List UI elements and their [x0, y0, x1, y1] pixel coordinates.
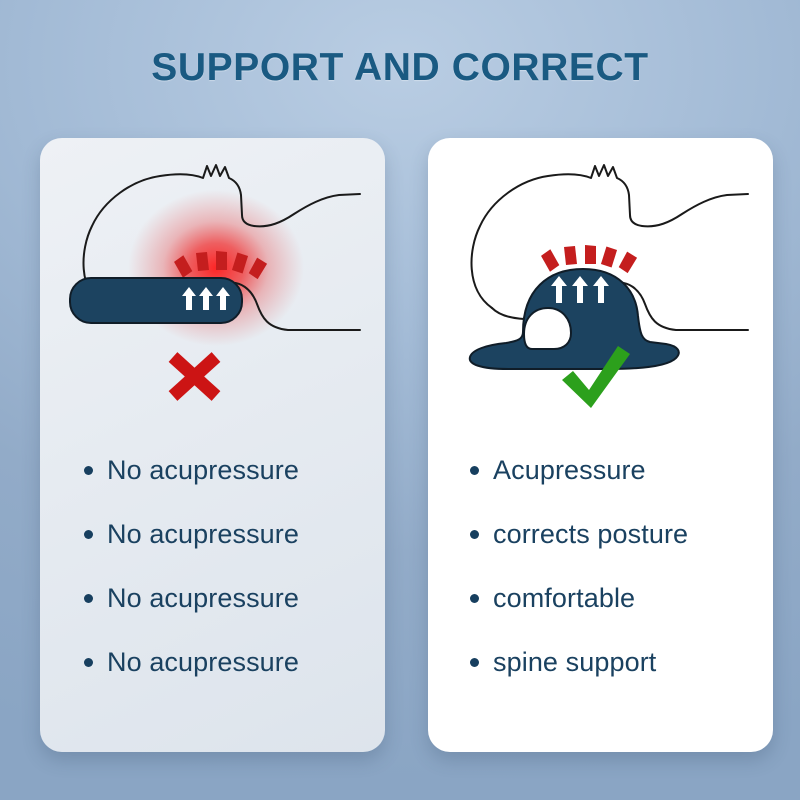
list-item-label: No acupressure — [107, 583, 299, 614]
tick-3 — [585, 245, 596, 264]
list-item: spine support — [428, 630, 773, 694]
bullet-dot-icon — [84, 466, 93, 475]
illustration-flat-pillow — [40, 138, 385, 428]
poster-root: SUPPORT AND CORRECT — [0, 0, 800, 800]
bullet-dot-icon — [470, 466, 479, 475]
list-item-label: Acupressure — [493, 455, 646, 486]
page-title: SUPPORT AND CORRECT — [0, 46, 800, 90]
list-item-label: spine support — [493, 647, 656, 678]
list-item: No acupressure — [40, 438, 385, 502]
illustration-contour-pillow — [428, 138, 773, 428]
card-incorrect: No acupressure No acupressure No acupres… — [40, 138, 385, 752]
tick-1 — [540, 248, 560, 273]
list-item-label: No acupressure — [107, 519, 299, 550]
bullet-dot-icon — [470, 658, 479, 667]
tick-2 — [564, 246, 577, 265]
card-correct: Acupressure corrects posture comfortable… — [428, 138, 773, 752]
tick-4 — [601, 246, 618, 268]
list-item: comfortable — [428, 566, 773, 630]
list-item: No acupressure — [40, 630, 385, 694]
pressure-arrows — [182, 287, 230, 310]
pressure-arrows — [551, 276, 609, 303]
list-item: corrects posture — [428, 502, 773, 566]
tick-3 — [216, 251, 227, 270]
list-item: No acupressure — [40, 502, 385, 566]
bullet-dot-icon — [470, 530, 479, 539]
bullet-dot-icon — [84, 658, 93, 667]
benefits-list-correct: Acupressure corrects posture comfortable… — [428, 438, 773, 694]
list-item: Acupressure — [428, 438, 773, 502]
tick-5 — [618, 251, 638, 275]
list-item-label: corrects posture — [493, 519, 688, 550]
flat-pillow-body — [70, 278, 242, 323]
bullet-dot-icon — [470, 594, 479, 603]
list-item-label: No acupressure — [107, 647, 299, 678]
benefits-list-incorrect: No acupressure No acupressure No acupres… — [40, 438, 385, 694]
neck-cavity — [524, 308, 571, 349]
list-item-label: No acupressure — [107, 455, 299, 486]
bullet-dot-icon — [84, 530, 93, 539]
list-item: No acupressure — [40, 566, 385, 630]
bullet-dot-icon — [84, 594, 93, 603]
list-item-label: comfortable — [493, 583, 635, 614]
cross-icon — [173, 357, 216, 396]
tick-2 — [196, 252, 209, 271]
